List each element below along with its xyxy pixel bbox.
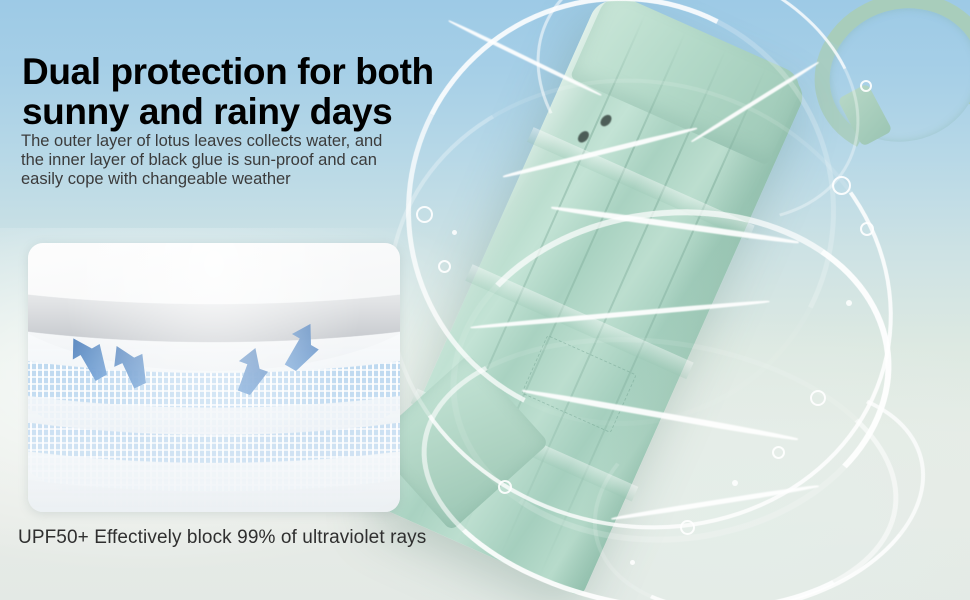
arrow-right-outer xyxy=(277,318,328,375)
water-droplet xyxy=(810,390,826,406)
water-droplet xyxy=(498,480,512,494)
arrow-right-inner xyxy=(229,344,274,398)
fabric-layers-diagram-panel xyxy=(28,243,400,512)
water-droplet xyxy=(452,230,457,235)
subtext: The outer layer of lotus leaves collects… xyxy=(21,132,401,189)
product-photo-umbrella xyxy=(380,0,970,600)
water-droplet xyxy=(630,560,635,565)
water-droplet xyxy=(772,446,785,459)
uv-protection-caption: UPF50+ Effectively block 99% of ultravio… xyxy=(18,527,426,549)
water-droplet xyxy=(860,80,872,92)
water-droplet xyxy=(438,260,451,273)
arrow-left-outer xyxy=(64,328,115,385)
arrow-left-inner xyxy=(107,338,155,393)
diagram-layers xyxy=(28,243,400,512)
water-droplet xyxy=(416,206,433,223)
water-droplet xyxy=(732,480,738,486)
water-droplet xyxy=(680,520,695,535)
water-droplet xyxy=(832,176,851,195)
water-droplet xyxy=(860,222,874,236)
headline: Dual protection for both sunny and rainy… xyxy=(22,52,452,132)
promo-banner: Dual protection for both sunny and rainy… xyxy=(0,0,970,600)
water-droplet xyxy=(846,300,852,306)
uv-deflection-arrows xyxy=(28,243,400,512)
